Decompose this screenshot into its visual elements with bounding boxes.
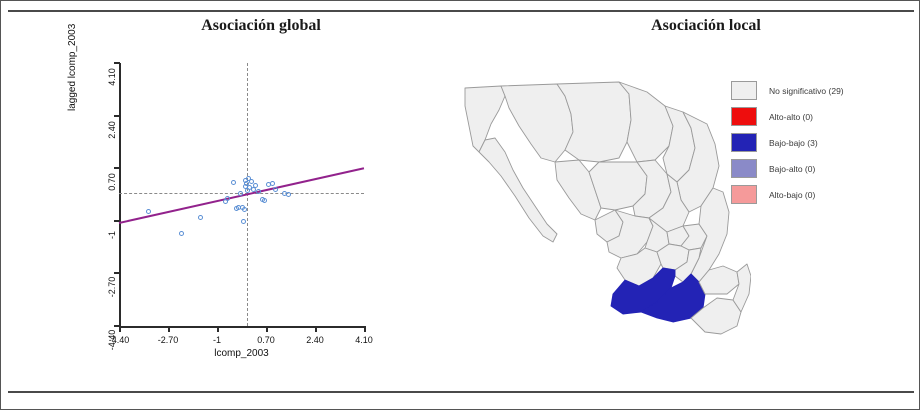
y-axis-line (119, 63, 121, 328)
top-divider (8, 10, 914, 12)
scatter-point (225, 196, 230, 201)
y-tick-label: -2.70 (107, 270, 117, 304)
legend-item[interactable]: No significativo (29) (731, 81, 844, 100)
state-sonora (501, 84, 573, 162)
legend-label: Bajo-alto (0) (769, 164, 815, 174)
x-tick (364, 326, 366, 332)
scatter-point (273, 187, 278, 192)
legend-item[interactable]: Alto-bajo (0) (731, 185, 844, 204)
legend-swatch (731, 159, 757, 178)
x-tick-label: -1 (200, 335, 234, 345)
legend-label: No significativo (29) (769, 86, 844, 96)
x-tick (119, 326, 121, 332)
legend-swatch (731, 185, 757, 204)
x-tick (266, 326, 268, 332)
x-tick (168, 326, 170, 332)
x-tick-label: -2.70 (151, 335, 185, 345)
y-tick-label: 4.10 (107, 60, 117, 94)
legend-item[interactable]: Bajo-alto (0) (731, 159, 844, 178)
figure-container: Asociación global Asociación local lagge… (0, 0, 920, 410)
y-tick-label: 0.70 (107, 165, 117, 199)
plot-area: -4.40-2.70-10.702.404.10 -4.40-2.70-10.7… (119, 63, 364, 328)
legend-swatch (731, 107, 757, 126)
scatter-point (262, 198, 267, 203)
legend-swatch (731, 81, 757, 100)
scatter-point (179, 231, 184, 236)
x-tick (217, 326, 219, 332)
scatter-point (241, 219, 246, 224)
legend-label: Alto-alto (0) (769, 112, 813, 122)
scatter-point (286, 192, 291, 197)
legend-label: Bajo-bajo (3) (769, 138, 818, 148)
x-tick-label: 2.40 (298, 335, 332, 345)
x-tick (315, 326, 317, 332)
bottom-divider (8, 391, 914, 393)
scatter-point (253, 183, 258, 188)
regression-line (119, 168, 364, 225)
lisa-legend: No significativo (29)Alto-alto (0)Bajo-b… (731, 81, 844, 211)
scatter-point (231, 180, 236, 185)
panel-title-local: Asociación local (561, 17, 851, 35)
y-axis-title: lagged lcomp_2003 (67, 24, 78, 111)
x-axis-line (119, 326, 364, 328)
legend-swatch (731, 133, 757, 152)
moran-scatter-panel: lagged lcomp_2003 lcomp_2003 -4.40-2.70-… (71, 51, 411, 371)
x-tick-label: -4.40 (102, 335, 136, 345)
legend-item[interactable]: Bajo-bajo (3) (731, 133, 844, 152)
lisa-map-panel: No significativo (29)Alto-alto (0)Bajo-b… (441, 56, 911, 366)
legend-label: Alto-bajo (0) (769, 190, 815, 200)
y-tick-label: -1 (107, 218, 117, 252)
x-tick-label: 0.70 (249, 335, 283, 345)
x-tick-label: 4.10 (347, 335, 381, 345)
mexico-map (461, 66, 751, 356)
scatter-point (270, 181, 275, 186)
y-tick-label: 2.40 (107, 113, 117, 147)
scatter-point (146, 209, 151, 214)
scatter-point (198, 215, 203, 220)
legend-item[interactable]: Alto-alto (0) (731, 107, 844, 126)
panel-title-global: Asociación global (111, 17, 411, 35)
x-axis-title: lcomp_2003 (119, 348, 364, 359)
scatter-point (238, 191, 243, 196)
